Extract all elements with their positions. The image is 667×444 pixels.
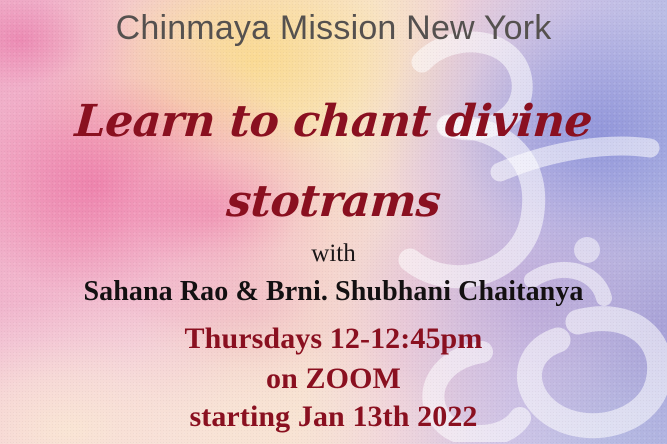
headline-line-2: stotrams [0,176,667,227]
organization-name: Chinmaya Mission New York [0,9,667,48]
headline-line-1: Learn to chant divine [0,96,667,147]
presenter-names: Sahana Rao & Brni. Shubhani Chaitanya [0,276,667,308]
schedule-time: Thursdays 12-12:45pm [0,322,667,356]
schedule-platform: on ZOOM [0,362,667,396]
with-label: with [0,240,667,268]
flyer-poster: Chinmaya Mission New York Learn to chant… [0,0,667,444]
schedule-start-date: starting Jan 13th 2022 [0,400,667,434]
